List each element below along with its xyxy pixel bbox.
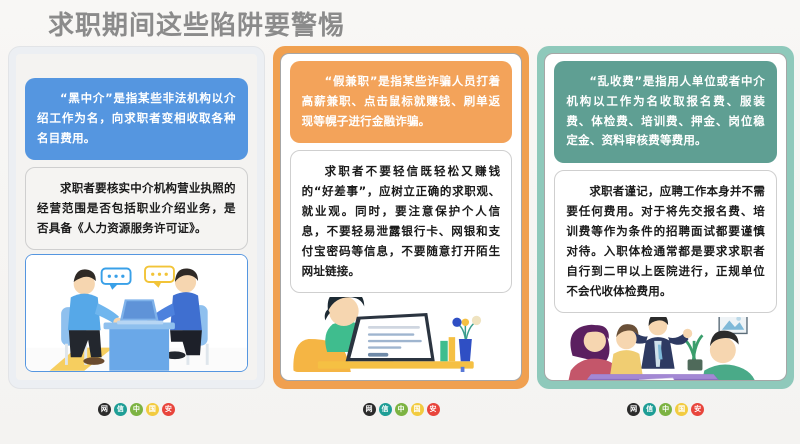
person-at-laptop-illustration (290, 297, 513, 372)
brand-dots: 网 信 中 国 安 (98, 403, 175, 416)
card-inner: “乱收费”是指用人单位或者中介机构以工作为名收取报名费、服装费、体检费、培训费、… (544, 53, 787, 381)
brand-dot-4: 国 (146, 403, 159, 416)
brand-dot-5: 安 (162, 403, 175, 416)
infographic-page: 求职期间这些陷阱要警惕 “黑中介”是指某些非法机构以介绍工作为名，向求职者变相收… (0, 0, 800, 444)
card-illegal-fees[interactable]: “乱收费”是指用人单位或者中介机构以工作为名收取报名费、服装费、体检费、培训费、… (537, 46, 794, 436)
definition-text: “乱收费”是指用人单位或者中介机构以工作为名收取报名费、服装费、体检费、培训费、… (554, 61, 777, 163)
card-inner: “假兼职”是指某些诈骗人员打着高薪兼职、点击鼠标就赚钱、刷单返现等幌子进行金融诈… (280, 53, 523, 381)
card-frame: “乱收费”是指用人单位或者中介机构以工作为名收取报名费、服装费、体检费、培训费、… (537, 46, 794, 389)
group-meeting-illustration (554, 317, 777, 381)
brand-dot-4: 国 (411, 403, 424, 416)
card-frame: “黑中介”是指某些非法机构以介绍工作为名，向求职者变相收取各种名目费用。 求职者… (8, 46, 265, 389)
title-bar: 求职期间这些陷阱要警惕 (0, 0, 800, 46)
advice-text: 求职者不要轻信既轻松又赚钱的“好差事”，应树立正确的求职观、就业观。同时，要注意… (290, 150, 513, 293)
definition-text: “假兼职”是指某些诈骗人员打着高薪兼职、点击鼠标就赚钱、刷单返现等幌子进行金融诈… (290, 61, 513, 143)
group-meeting-svg (554, 317, 777, 381)
advice-text: 求职者要核实中介机构营业执照的经营范围是否包括职业介绍业务，是否具备《人力资源服… (25, 167, 248, 250)
brand-dot-3: 中 (130, 403, 143, 416)
interview-desk-illustration (25, 254, 248, 372)
advice-text: 求职者谨记，应聘工作本身并不需要任何费用。对于将先交报名费、培训费等作为条件的招… (554, 170, 777, 313)
brand-dots: 网 信 中 国 安 (363, 403, 440, 416)
brand-dot-5: 安 (427, 403, 440, 416)
person-at-laptop-svg (290, 297, 513, 372)
card-frame: “假兼职”是指某些诈骗人员打着高薪兼职、点击鼠标就赚钱、刷单返现等幌子进行金融诈… (273, 46, 530, 389)
card-inner: “黑中介”是指某些非法机构以介绍工作为名，向求职者变相收取各种名目费用。 求职者… (16, 54, 257, 380)
brand-dot-4: 国 (675, 403, 688, 416)
brand-dot-2: 信 (114, 403, 127, 416)
brand-dot-1: 网 (627, 403, 640, 416)
brand-dot-2: 信 (643, 403, 656, 416)
cards-row: “黑中介”是指某些非法机构以介绍工作为名，向求职者变相收取各种名目费用。 求职者… (0, 46, 800, 444)
brand-dot-5: 安 (691, 403, 704, 416)
brand-dots: 网 信 中 国 安 (627, 403, 704, 416)
brand-dot-3: 中 (659, 403, 672, 416)
brand-dot-1: 网 (363, 403, 376, 416)
brand-dot-3: 中 (395, 403, 408, 416)
brand-dot-2: 信 (379, 403, 392, 416)
brand-dot-1: 网 (98, 403, 111, 416)
page-title: 求职期间这些陷阱要警惕 (48, 5, 345, 42)
interview-desk-svg (26, 255, 247, 371)
card-black-agency[interactable]: “黑中介”是指某些非法机构以介绍工作为名，向求职者变相收取各种名目费用。 求职者… (8, 46, 265, 436)
card-fake-parttime[interactable]: “假兼职”是指某些诈骗人员打着高薪兼职、点击鼠标就赚钱、刷单返现等幌子进行金融诈… (273, 46, 530, 436)
definition-text: “黑中介”是指某些非法机构以介绍工作为名，向求职者变相收取各种名目费用。 (25, 78, 248, 160)
